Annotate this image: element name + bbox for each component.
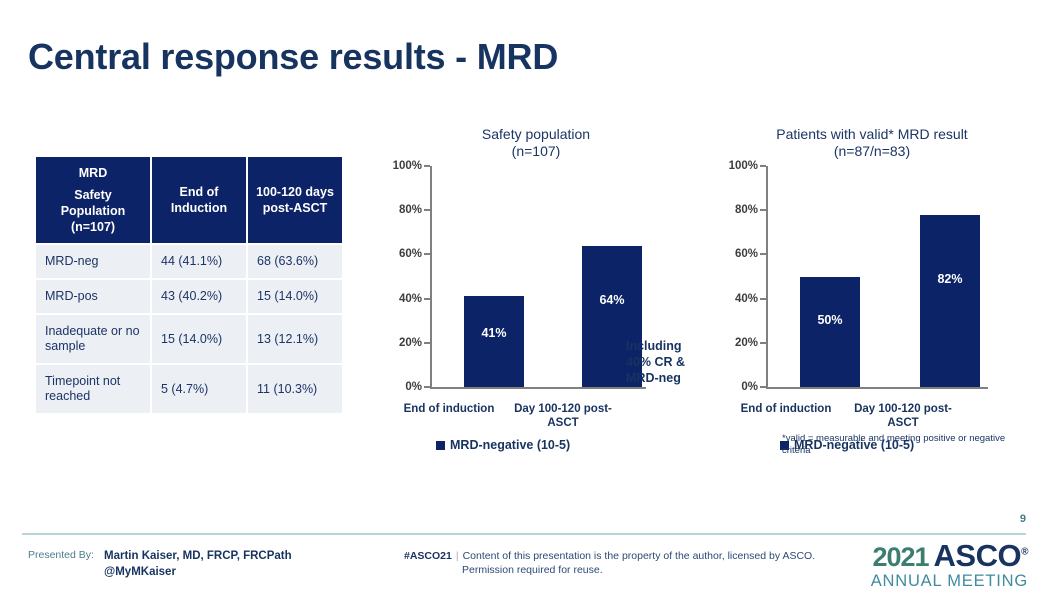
table-header-asct-line1: 100-120 days <box>252 184 338 200</box>
registered-trademark-icon: ® <box>1021 547 1028 558</box>
bar-value-label: 82% <box>920 272 980 286</box>
y-axis-tick-mark <box>424 165 430 167</box>
table-header-post-asct: 100-120 days post-ASCT <box>247 157 342 244</box>
y-axis-tick-label: 40% <box>399 293 422 305</box>
y-axis-tick-label: 20% <box>735 337 758 349</box>
asco-logo-year: 2021 <box>872 544 928 571</box>
plot-area: 0%20%40%60%80%100% 41%64% Including 40% … <box>386 166 686 398</box>
bar-value-label: 50% <box>800 313 860 327</box>
legend-label: MRD-negative (10-5) <box>450 438 570 452</box>
y-axis-tick-mark <box>424 209 430 211</box>
y-axis-tick-mark <box>760 165 766 167</box>
plot-area: 0%20%40%60%80%100% 50%82% <box>722 166 1022 398</box>
table-header-eoi-line1: End of <box>156 184 242 200</box>
presented-by-label: Presented By: <box>28 549 94 561</box>
rights-divider: | <box>452 550 463 562</box>
y-axis-tick-label: 80% <box>735 204 758 216</box>
asco-logo-top: 2021 ASCO® <box>871 540 1028 571</box>
presenter-name: Martin Kaiser, MD, FRCP, FRCPath <box>104 548 292 564</box>
page-title: Central response results - MRD <box>28 36 558 78</box>
y-axis-tick-label: 60% <box>399 248 422 260</box>
asco-logo: 2021 ASCO® ANNUAL MEETING <box>871 540 1028 590</box>
chart-footnote: *valid = measurable and meeting positive… <box>782 433 1012 457</box>
x-axis-category-label: End of induction <box>390 402 508 416</box>
asco-logo-wordmark: ASCO® <box>934 540 1028 571</box>
y-axis-tick-label: 0% <box>405 381 422 393</box>
mrd-summary-table: MRD Safety Population (n=107) End of Ind… <box>36 157 342 413</box>
y-axis-tick-mark <box>424 342 430 344</box>
x-axis-category-label: End of induction <box>726 402 846 416</box>
table-header-mrd: MRD Safety Population (n=107) <box>36 157 151 244</box>
annotation-line1: Including <box>626 338 685 354</box>
footer-divider <box>22 533 1026 535</box>
x-axis-category-labels: End of inductionDay 100-120 post-ASCT <box>386 402 686 436</box>
x-axis-category-label: Day 100-120 post-ASCT <box>844 402 962 430</box>
y-axis-tick-label: 0% <box>741 381 758 393</box>
bar: 82% <box>920 215 980 387</box>
table-row: MRD-pos 43 (40.2%) 15 (14.0%) <box>36 279 342 314</box>
chart-title: Patients with valid* MRD result (n=87/n=… <box>722 126 1022 160</box>
y-axis-tick-label: 80% <box>399 204 422 216</box>
presenter-info: Martin Kaiser, MD, FRCP, FRCPath @MyMKai… <box>104 548 292 580</box>
table-header-row: MRD Safety Population (n=107) End of Ind… <box>36 157 342 244</box>
table-header-asct-line2: post-ASCT <box>252 200 338 216</box>
table-header-mrd-line1: MRD <box>40 165 146 181</box>
annotation-line3: MRD-neg <box>626 370 685 386</box>
bar-value-label: 41% <box>464 326 524 340</box>
chart-safety-population: Safety population (n=107) 0%20%40%60%80%… <box>386 126 686 452</box>
y-axis-tick-label: 60% <box>735 248 758 260</box>
rights-statement: #ASCO21|Content of this presentation is … <box>404 549 844 577</box>
row-value-end-of-induction: 43 (40.2%) <box>151 279 247 314</box>
row-value-post-asct: 68 (63.6%) <box>247 244 342 279</box>
bar-value-label: 64% <box>582 293 642 307</box>
y-axis-tick-mark <box>760 209 766 211</box>
hashtag-label: #ASCO21 <box>404 550 452 562</box>
rights-line2: Permission required for reuse. <box>404 563 844 577</box>
y-axis-tick-mark <box>760 386 766 388</box>
legend-swatch-icon <box>436 441 445 450</box>
chart-title-main: Patients with valid* MRD result <box>776 126 967 142</box>
rights-line1: Content of this presentation is the prop… <box>463 550 816 562</box>
bar: 50% <box>800 277 860 388</box>
bar: 41% <box>464 296 524 387</box>
table-header-mrd-line3: Population <box>40 203 146 219</box>
chart-title-main: Safety population <box>482 126 590 142</box>
chart-subtitle: (n=107) <box>386 143 686 160</box>
y-axis-tick-mark <box>760 298 766 300</box>
presenter-handle: @MyMKaiser <box>104 564 292 580</box>
annotation-line2: 40% CR & <box>626 354 685 370</box>
row-value-end-of-induction: 44 (41.1%) <box>151 244 247 279</box>
bar-series: 50%82% <box>768 166 986 388</box>
bar-series: 41%64% <box>432 166 644 388</box>
y-axis-tick-label: 100% <box>393 160 422 172</box>
chart-subtitle: (n=87/n=83) <box>722 143 1022 160</box>
x-axis-category-labels: End of inductionDay 100-120 post-ASCT <box>722 402 1022 436</box>
asco-logo-subtitle: ANNUAL MEETING <box>871 573 1028 590</box>
table-header-end-of-induction: End of Induction <box>151 157 247 244</box>
row-value-post-asct: 13 (12.1%) <box>247 314 342 364</box>
asco-logo-text: ASCO <box>934 538 1022 573</box>
chart-valid-mrd-result: Patients with valid* MRD result (n=87/n=… <box>722 126 1022 452</box>
row-value-end-of-induction: 5 (4.7%) <box>151 364 247 413</box>
page-number: 9 <box>1020 513 1026 525</box>
y-axis-tick-label: 40% <box>735 293 758 305</box>
row-label: Timepoint not reached <box>36 364 151 413</box>
y-axis-tick-label: 20% <box>399 337 422 349</box>
y-axis-tick-mark <box>760 253 766 255</box>
y-axis-tick-mark <box>424 298 430 300</box>
row-label: MRD-neg <box>36 244 151 279</box>
y-axis-tick-labels: 0%20%40%60%80%100% <box>722 166 758 388</box>
row-value-post-asct: 11 (10.3%) <box>247 364 342 413</box>
y-axis-tick-labels: 0%20%40%60%80%100% <box>386 166 422 388</box>
table-header-mrd-line4: (n=107) <box>40 219 146 235</box>
row-label: Inadequate or no sample <box>36 314 151 364</box>
x-axis-category-label: Day 100-120 post-ASCT <box>504 402 622 430</box>
y-axis-tick-mark <box>760 342 766 344</box>
table-header-mrd-line2: Safety <box>40 187 146 203</box>
row-label: MRD-pos <box>36 279 151 314</box>
row-value-post-asct: 15 (14.0%) <box>247 279 342 314</box>
chart-annotation: Including 40% CR & MRD-neg <box>626 338 685 386</box>
y-axis-tick-mark <box>424 386 430 388</box>
table-row: Inadequate or no sample 15 (14.0%) 13 (1… <box>36 314 342 364</box>
y-axis-tick-mark <box>424 253 430 255</box>
chart-title: Safety population (n=107) <box>386 126 686 160</box>
table-header-eoi-line2: Induction <box>156 200 242 216</box>
table-row: MRD-neg 44 (41.1%) 68 (63.6%) <box>36 244 342 279</box>
chart-legend: MRD-negative (10-5) <box>386 438 686 452</box>
y-axis-tick-label: 100% <box>729 160 758 172</box>
table-row: Timepoint not reached 5 (4.7%) 11 (10.3%… <box>36 364 342 413</box>
row-value-end-of-induction: 15 (14.0%) <box>151 314 247 364</box>
